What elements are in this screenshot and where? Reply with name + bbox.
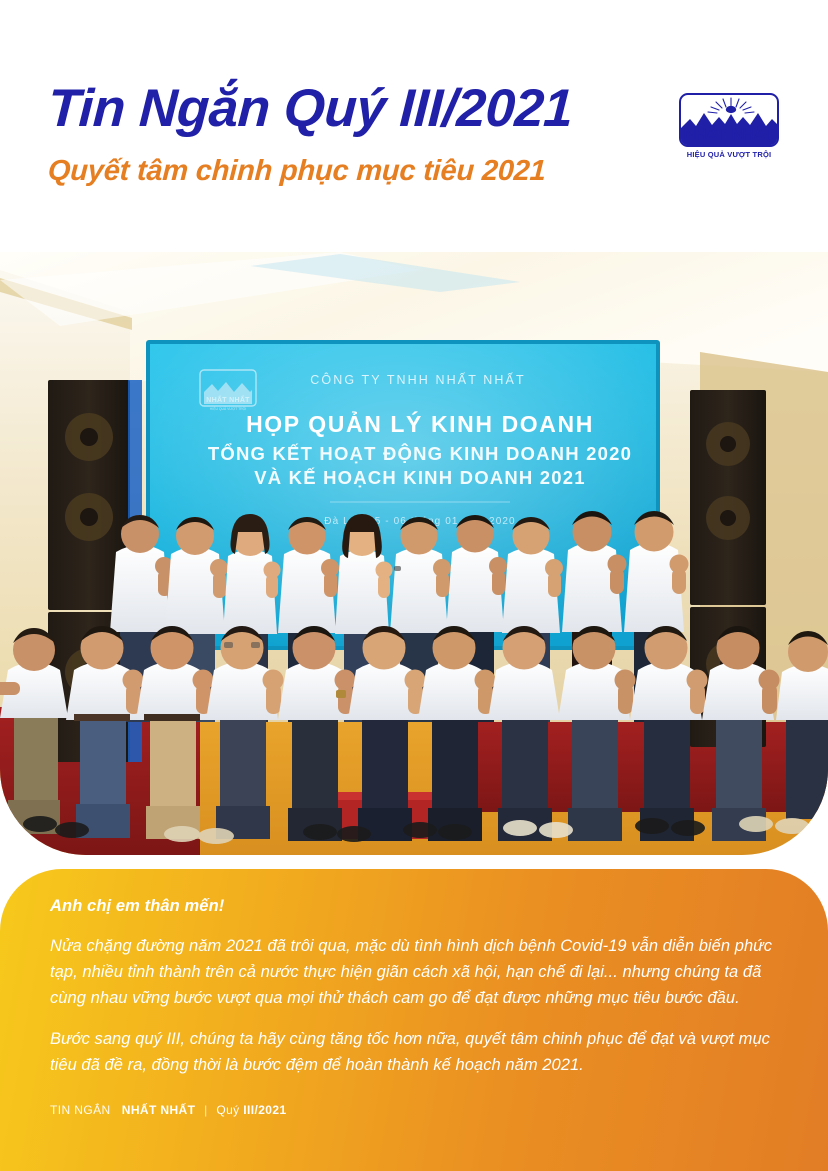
logo-tagline: HIỆU QUẢ VƯỢT TRỘI [679,150,779,159]
svg-text:VÀ KẾ HOẠCH KINH DOANH 2021: VÀ KẾ HOẠCH KINH DOANH 2021 [254,467,586,488]
hero-photo-illustration: NHẤT NHẤT HIỆU QUẢ VƯỢT TRỘI CÔNG TY TNH… [0,252,828,855]
title-block: Tin Ngắn Quý III/2021 Quyết tâm chinh ph… [48,82,573,186]
svg-text:HỌP QUẢN LÝ KINH DOANH: HỌP QUẢN LÝ KINH DOANH [246,409,594,437]
paragraph-2: Bước sang quý III, chúng ta hãy cùng tăn… [50,1026,790,1078]
footer-quarter: Quý III/2021 [216,1103,286,1117]
page-title: Tin Ngắn Quý III/2021 [47,82,574,135]
footer-prefix: TIN NGẮN [50,1103,111,1117]
svg-text:TỔNG KẾT HOẠT ĐỘNG KINH DOANH: TỔNG KẾT HOẠT ĐỘNG KINH DOANH 2020 [208,443,632,464]
footer-separator: | [204,1103,208,1117]
paragraph-1: Nửa chặng đường năm 2021 đã trôi qua, mặ… [50,933,790,1011]
page-subtitle: Quyết tâm chinh phục mục tiêu 2021 [47,157,573,186]
greeting-text: Anh chị em thân mến! [50,897,790,916]
logo-emblem: NHẤT NHẤT [679,93,779,147]
message-body: Anh chị em thân mến! Nửa chặng đường năm… [50,897,790,1093]
footer-brand: NHẤT NHẤT [122,1103,196,1117]
footer-caption: TIN NGẮN NHẤT NHẤT | Quý III/2021 [50,1103,287,1117]
svg-text:CÔNG TY TNHH NHẤT NHẤT: CÔNG TY TNHH NHẤT NHẤT [310,372,525,387]
message-panel: Anh chị em thân mến! Nửa chặng đường năm… [0,869,828,1171]
nhat-nhat-logo: NHẤT NHẤT HIỆU QUẢ VƯỢT TRỘI [679,93,785,163]
svg-text:HIỆU QUẢ VƯỢT TRỘI: HIỆU QUẢ VƯỢT TRỘI [210,406,246,411]
hero-photo: NHẤT NHẤT HIỆU QUẢ VƯỢT TRỘI CÔNG TY TNH… [0,252,828,855]
logo-wordmark: NHẤT NHẤT [681,127,777,143]
page-header: Tin Ngắn Quý III/2021 Quyết tâm chinh ph… [0,0,828,248]
